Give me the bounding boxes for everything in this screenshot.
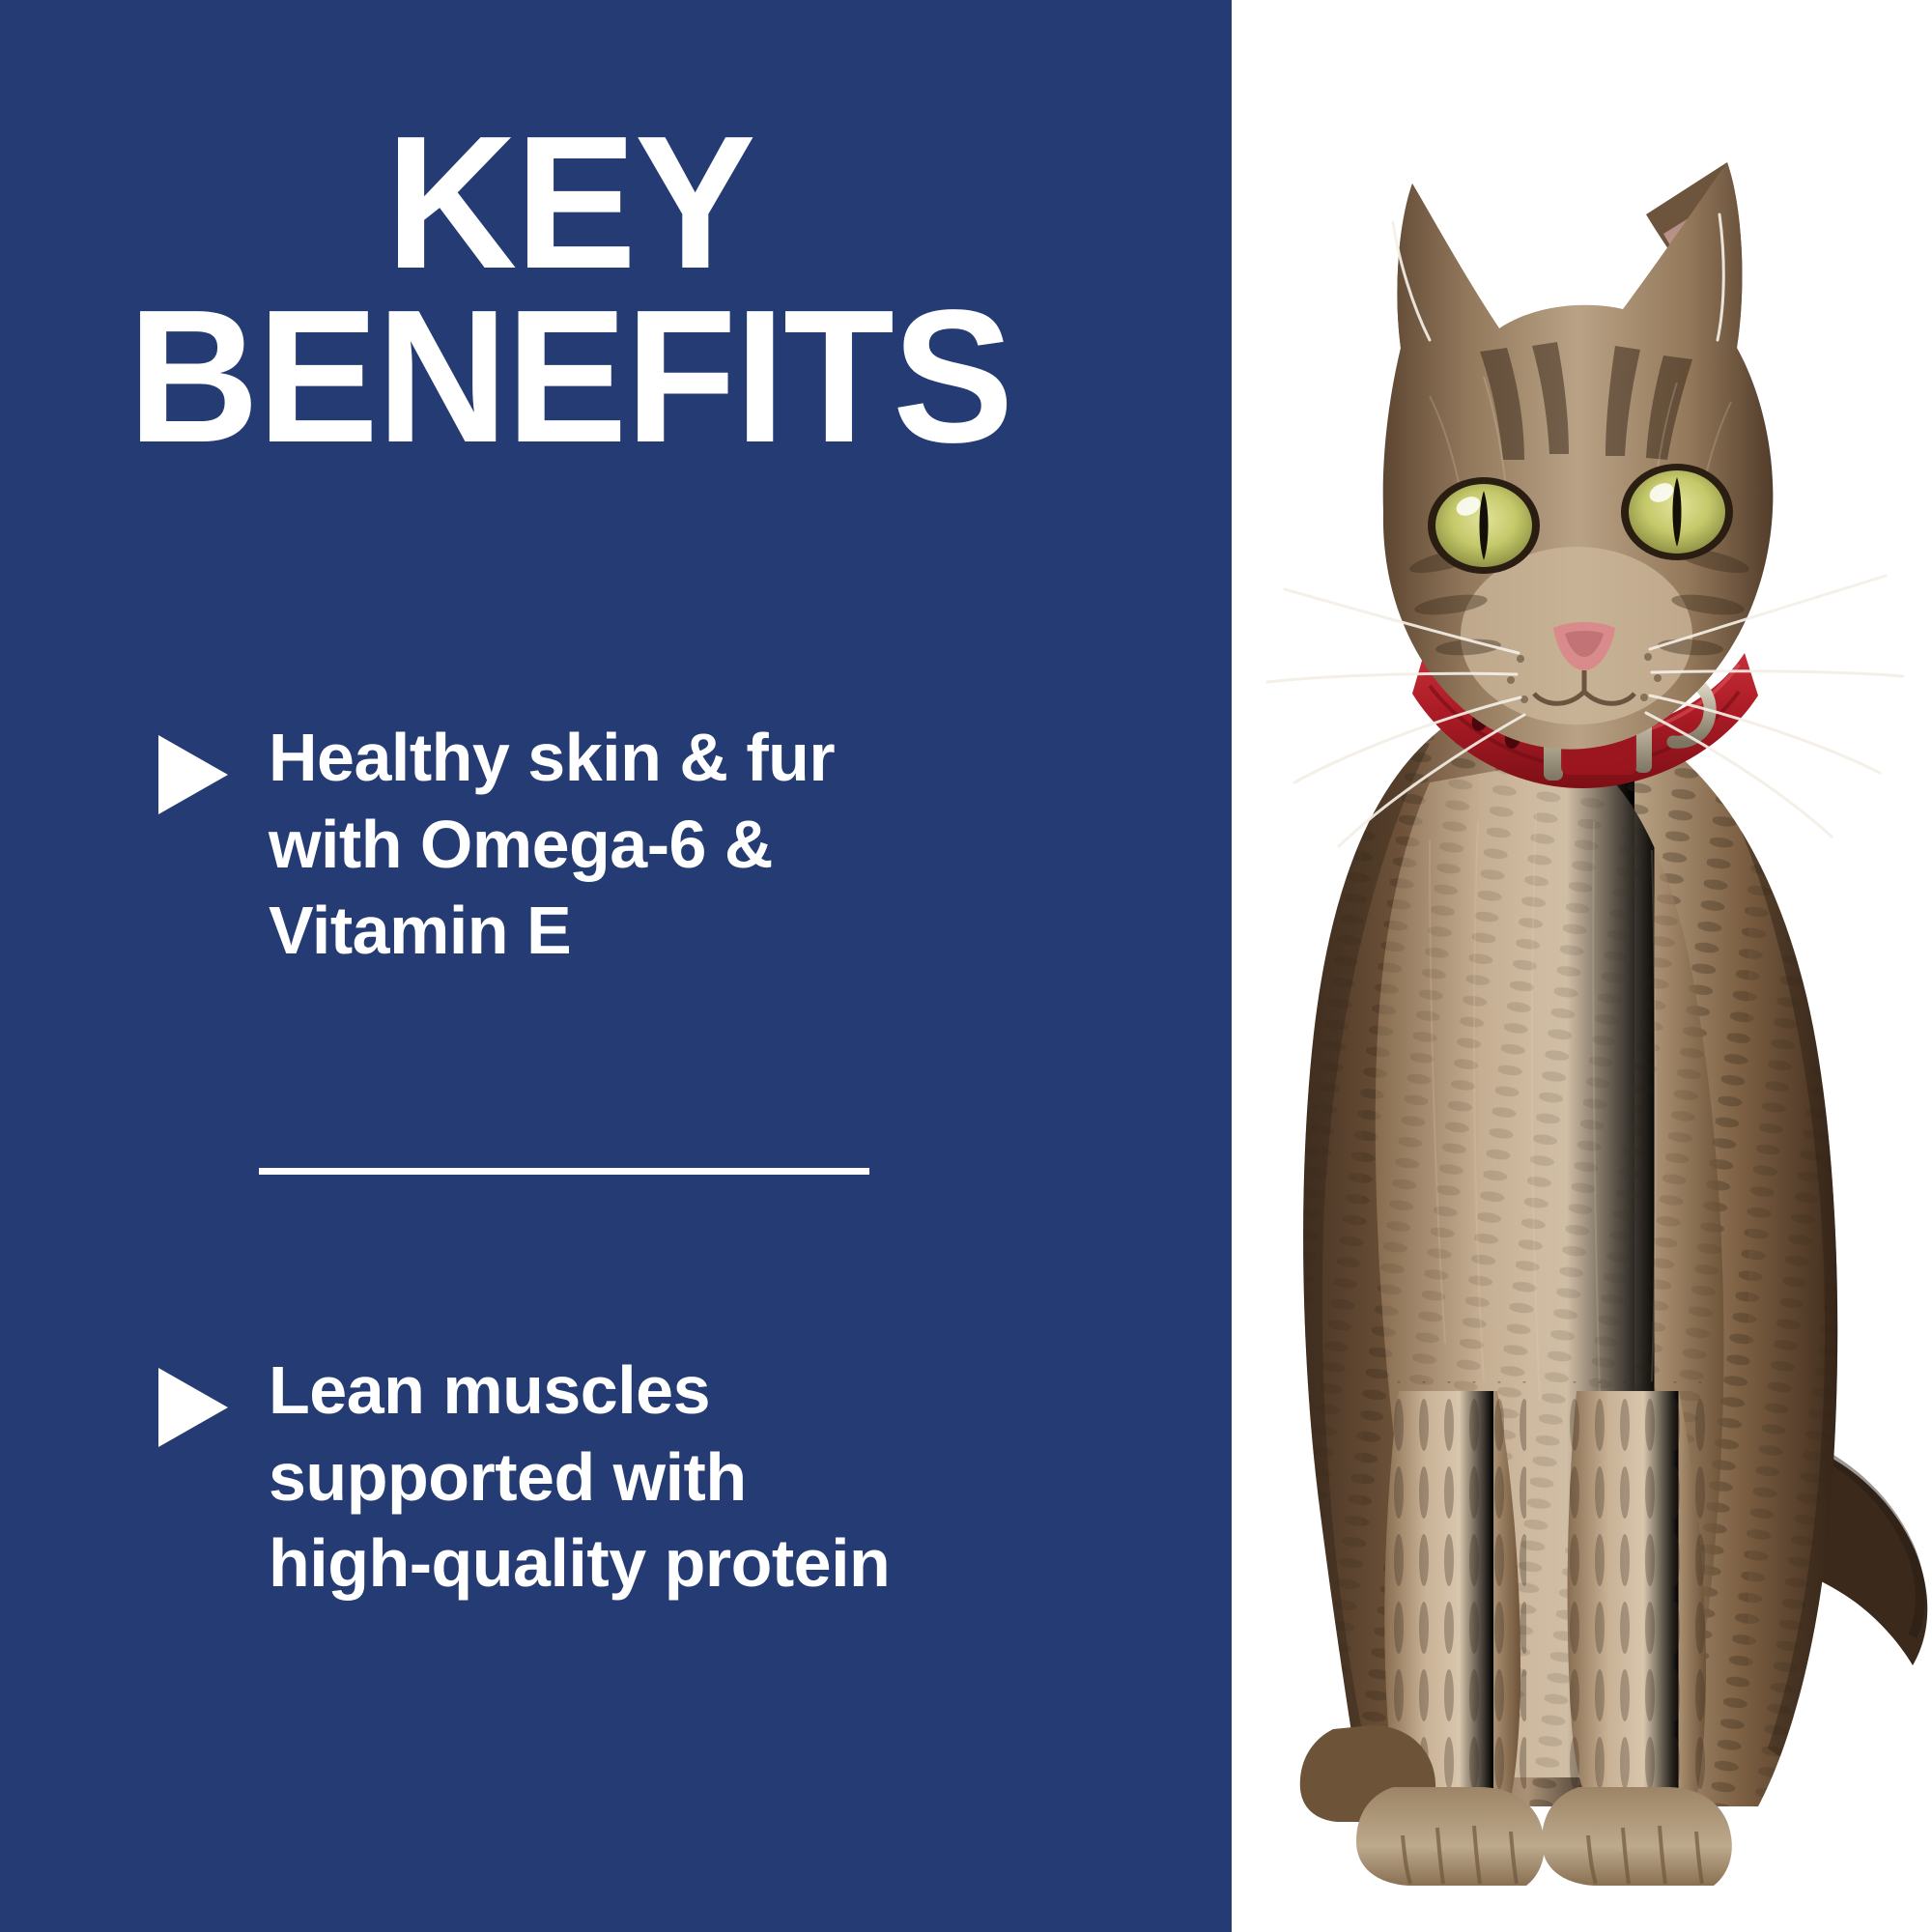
benefit-item-1-text: Healthy skin & fur with Omega-6 & Vitami…: [269, 715, 835, 975]
triangle-right-icon: [155, 1365, 232, 1450]
page-title: KEY BENEFITS: [23, 116, 1118, 465]
cat-front-paw-right: [1542, 1787, 1732, 1886]
benefit-1-line-3: Vitamin E: [269, 888, 835, 975]
benefit-2-line-2: supported with: [269, 1435, 890, 1521]
cat-eye-left: [1428, 477, 1540, 574]
cat-head: [1372, 162, 1787, 750]
benefit-1-line-2: with Omega-6 &: [269, 802, 835, 889]
benefit-item-2: Lean muscles supported with high-quality…: [0, 1348, 1232, 1607]
benefit-item-1: Healthy skin & fur with Omega-6 & Vitami…: [0, 715, 1232, 975]
cat-photo: [1140, 106, 1932, 1932]
section-divider: [259, 1168, 869, 1175]
benefit-1-line-1: Healthy skin & fur: [269, 715, 835, 802]
triangle-right-icon: [155, 732, 232, 817]
key-benefits-banner: KEY BENEFITS Healthy skin & fur with Ome…: [0, 0, 1932, 1932]
cat-eye-right: [1621, 464, 1733, 560]
benefit-list: Healthy skin & fur with Omega-6 & Vitami…: [0, 715, 1232, 975]
benefit-list-lower: Lean muscles supported with high-quality…: [0, 1348, 1232, 1607]
benefit-item-2-text: Lean muscles supported with high-quality…: [269, 1348, 890, 1607]
page-title-line-2: BENEFITS: [23, 290, 1118, 464]
benefit-2-line-3: high-quality protein: [269, 1520, 890, 1607]
page-title-line-1: KEY: [23, 116, 1118, 290]
benefit-2-line-1: Lean muscles: [269, 1348, 890, 1435]
